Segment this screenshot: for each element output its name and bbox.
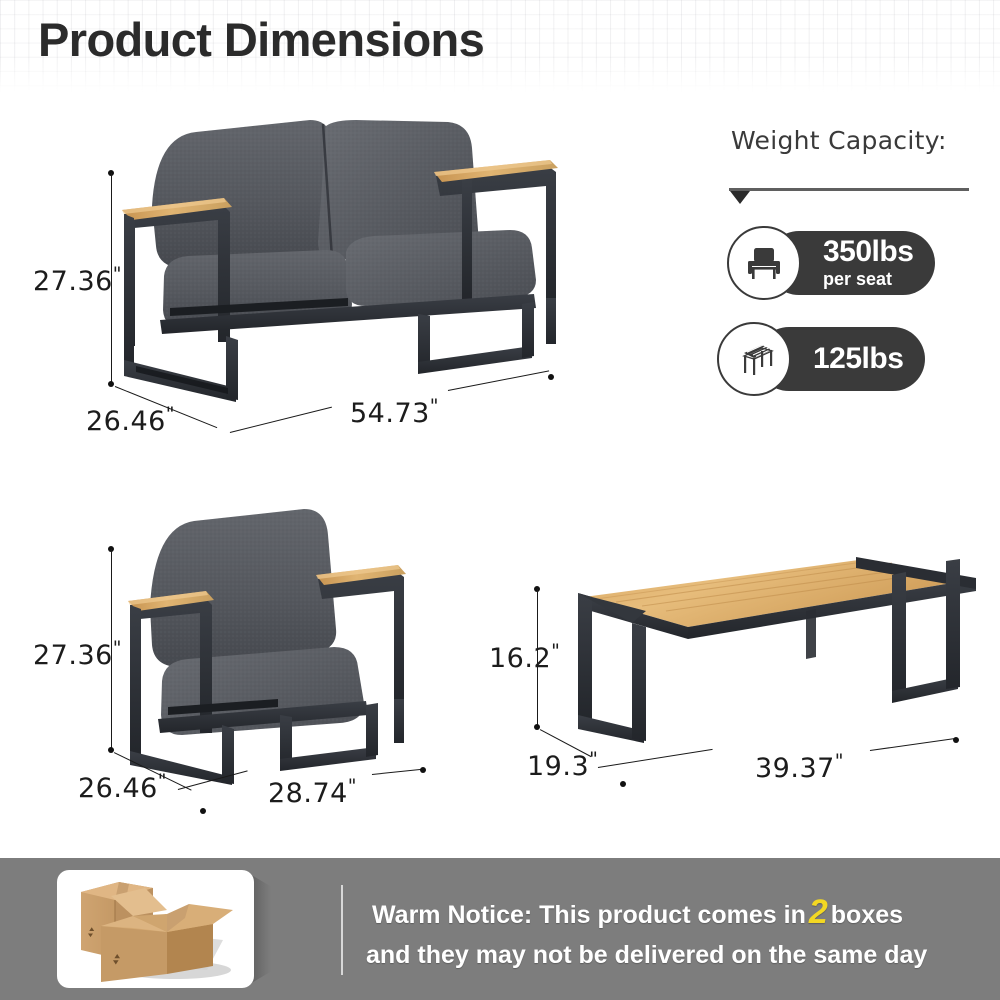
weight-badge-seat-sublabel: per seat <box>823 269 913 290</box>
warm-notice-bar: Warm Notice: This product comes in2boxes… <box>0 858 1000 1000</box>
coffee-table-image <box>556 545 986 760</box>
sofa-width-unit: " <box>430 395 439 417</box>
notice-line1-before: Warm Notice: This product comes in <box>372 901 806 929</box>
notice-line-1: Warm Notice: This product comes in2boxes <box>372 888 972 937</box>
armchair-width-dim-label: 28.74" <box>268 775 357 809</box>
sofa-depth-unit: " <box>166 403 175 425</box>
sofa-width-value: 54.73 <box>350 398 430 429</box>
down-triangle-icon <box>730 191 750 204</box>
armchair-depth-unit: " <box>158 770 167 792</box>
cardboard-boxes-image <box>57 870 254 988</box>
table-height-value: 16.2 <box>489 643 551 674</box>
notice-box-count: 2 <box>806 893 831 931</box>
sofa-depth-value: 26.46 <box>86 406 166 437</box>
armchair-icon <box>727 226 801 300</box>
loveseat-sofa-image <box>118 108 593 408</box>
table-width-dim-right-dot <box>953 737 959 743</box>
weight-badge-table: 125lbs <box>717 327 932 391</box>
weight-badge-seat-value: 350lbs <box>823 237 913 267</box>
weight-badge-table-value: 125lbs <box>813 344 903 374</box>
table-depth-dim-label: 19.3" <box>527 748 598 782</box>
sofa-width-dim-line-left <box>230 407 332 434</box>
table-depth-unit: " <box>589 748 598 770</box>
armchair-image <box>128 495 438 785</box>
table-width-value: 39.37 <box>755 753 835 784</box>
armchair-height-dim-label: 27.36" <box>33 637 122 671</box>
sofa-height-dim-label: 27.36" <box>33 263 122 297</box>
sofa-height-unit: " <box>113 263 122 285</box>
table-width-unit: " <box>835 750 844 772</box>
notice-line-2: and they may not be delivered on the sam… <box>366 937 972 973</box>
table-width-dim-label: 39.37" <box>755 750 844 784</box>
notice-divider <box>341 885 343 975</box>
table-depth-value: 19.3 <box>527 751 589 782</box>
weight-badge-seat: 350lbs per seat <box>727 231 937 295</box>
table-height-unit: " <box>551 640 560 662</box>
weight-capacity-title: Weight Capacity: <box>731 126 947 155</box>
coffee-table-icon <box>717 322 791 396</box>
sofa-height-dim-bottom-dot <box>108 381 114 387</box>
armchair-depth-value: 26.46 <box>78 773 158 804</box>
armchair-height-unit: " <box>113 637 122 659</box>
sofa-width-dim-dot <box>548 374 554 380</box>
product-dimensions-infographic: Product Dimensions <box>0 0 1000 1000</box>
table-width-dim-left-dot <box>620 781 626 787</box>
armchair-width-dim-right-dot <box>420 767 426 773</box>
sofa-height-value: 27.36 <box>33 266 113 297</box>
page-title: Product Dimensions <box>38 12 484 67</box>
sofa-depth-dim-label: 26.46" <box>86 403 175 437</box>
notice-line1-after: boxes <box>831 901 903 929</box>
table-height-dim-label: 16.2" <box>489 640 560 674</box>
sofa-width-dim-label: 54.73" <box>350 395 439 429</box>
armchair-width-dim-left-dot <box>200 808 206 814</box>
weight-capacity-divider <box>729 188 969 191</box>
armchair-height-value: 27.36 <box>33 640 113 671</box>
armchair-width-value: 28.74 <box>268 778 348 809</box>
armchair-depth-dim-label: 26.46" <box>78 770 167 804</box>
armchair-width-unit: " <box>348 775 357 797</box>
notice-text-block: Warm Notice: This product comes in2boxes… <box>372 888 972 974</box>
